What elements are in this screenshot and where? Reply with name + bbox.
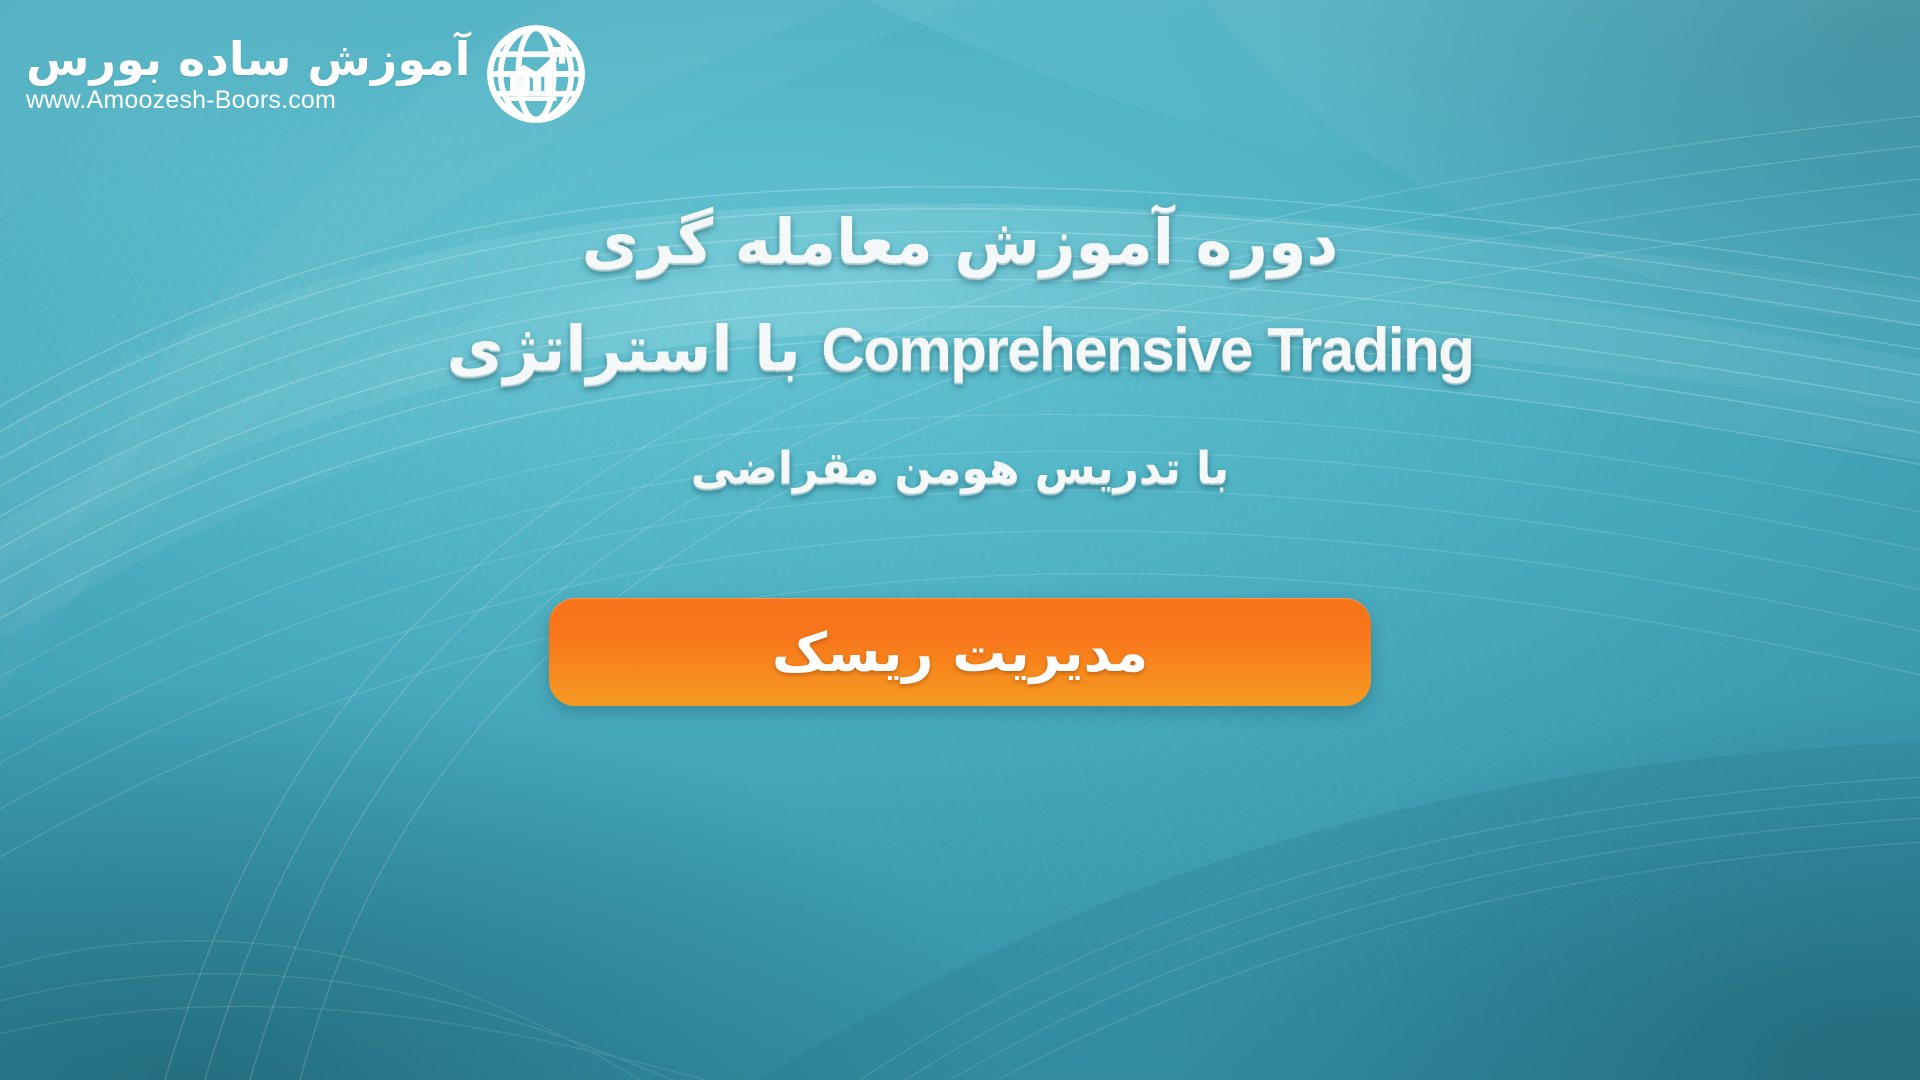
hero-strategy-prefix-fa: با استراتژی [447, 312, 801, 385]
risk-management-button-label: مدیریت ریسک [772, 621, 1148, 684]
promo-banner: آموزش ساده بورس www.Amoozesh-Boors.com د… [0, 0, 1920, 1080]
cta-container: مدیریت ریسک [0, 598, 1920, 706]
globe-bar-chart-arrow-icon [484, 22, 588, 126]
background-vignette [0, 0, 1920, 1080]
risk-management-button[interactable]: مدیریت ریسک [549, 598, 1371, 706]
brand-website: www.Amoozesh-Boors.com [26, 88, 336, 113]
hero-instructor-line: با تدریس هومن مقراضی [691, 443, 1229, 494]
hero-text-block: دوره آموزش معامله گری Comprehensive Trad… [0, 205, 1920, 494]
hero-title-line-1: دوره آموزش معامله گری [582, 205, 1339, 278]
hero-title-line-2: Comprehensive Trading با استراتژی [447, 312, 1474, 385]
hero-strategy-name-en: Comprehensive Trading [821, 316, 1473, 383]
brand-name: آموزش ساده بورس [26, 36, 470, 82]
brand-logo[interactable]: آموزش ساده بورس www.Amoozesh-Boors.com [26, 22, 588, 126]
background-wave-ribbons [0, 0, 1920, 1080]
